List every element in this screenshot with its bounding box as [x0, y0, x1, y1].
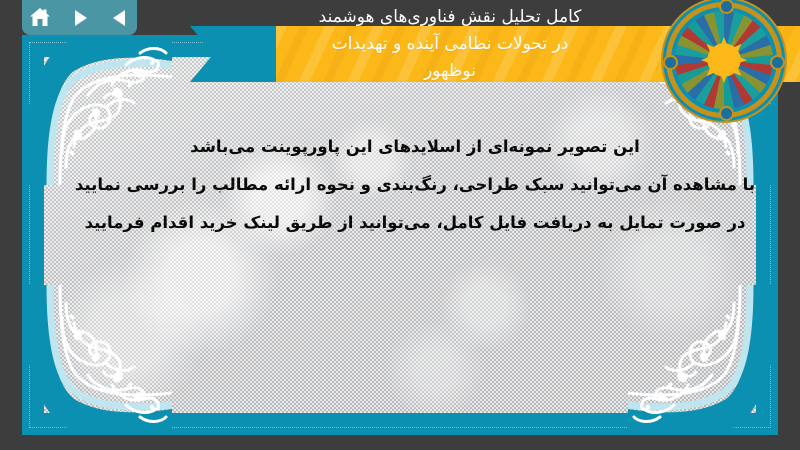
body-line-3: در صورت تمایل به دریافت فایل کامل، می‌تو…	[70, 204, 760, 242]
slide-viewer: این تصویر نمونه‌ای از اسلایدهای این پاور…	[0, 0, 800, 450]
back-button[interactable]	[107, 6, 133, 30]
persian-medallion-icon	[666, 2, 782, 118]
medallion-dot-top	[719, 0, 734, 14]
home-button[interactable]	[27, 6, 53, 30]
body-line-2: با مشاهده آن می‌توانید سبک طراحی، رنگ‌بن…	[70, 166, 760, 204]
body-line-1: این تصویر نمونه‌ای از اسلایدهای این پاور…	[70, 128, 760, 166]
forward-button[interactable]	[67, 6, 93, 30]
medallion-dot-bottom	[719, 106, 734, 121]
navigation-bar	[22, 0, 137, 35]
medallion-dot-left	[663, 55, 678, 70]
slide-body-text: این تصویر نمونه‌ای از اسلایدهای این پاور…	[70, 128, 760, 242]
medallion-dot-right	[770, 55, 785, 70]
